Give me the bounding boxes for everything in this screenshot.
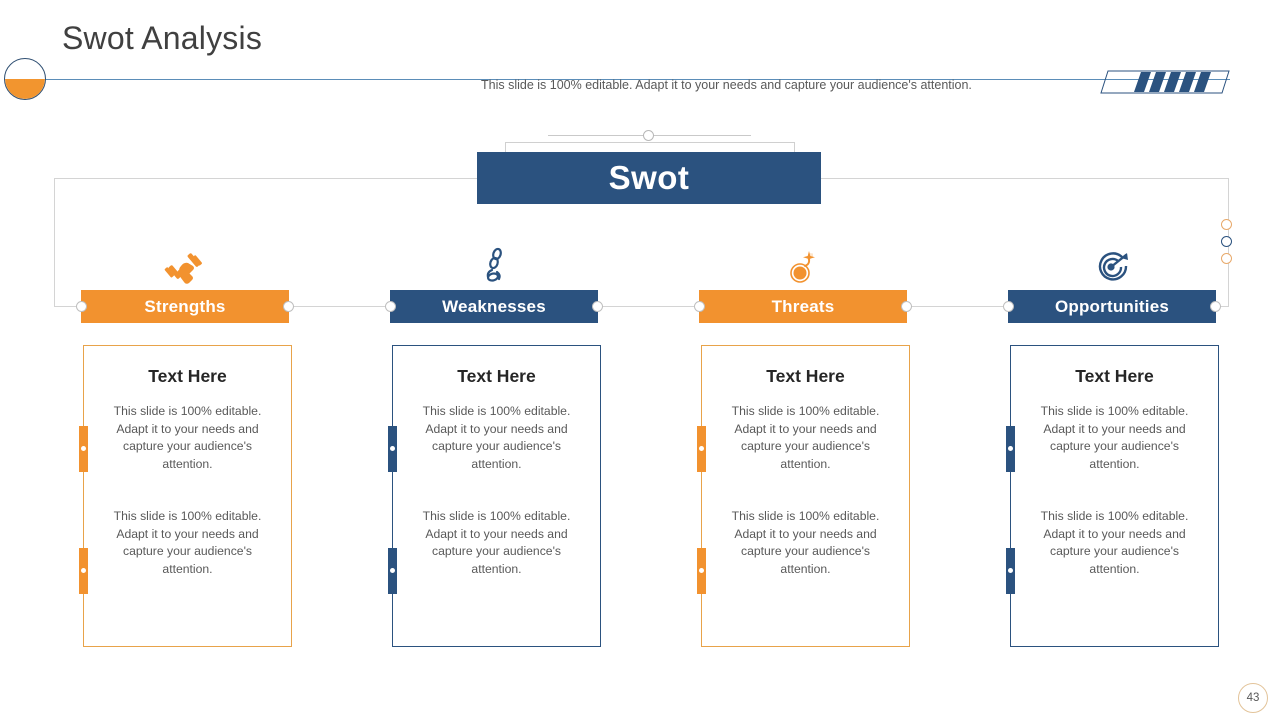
connector-node-left [694, 301, 705, 312]
card-tab-marker [79, 426, 88, 472]
connector-node-left [76, 301, 87, 312]
card-title: Text Here [84, 366, 291, 387]
logo-fill [5, 79, 45, 99]
center-connector-dot-icon [643, 130, 654, 141]
card-tab-dot-icon [699, 568, 704, 573]
category-label-opportunities[interactable]: Opportunities [1008, 290, 1216, 323]
half-circle-logo-icon [4, 58, 46, 100]
card-tab-dot-icon [81, 568, 86, 573]
card-paragraph: This slide is 100% editable. Adapt it to… [100, 508, 275, 578]
center-title-box[interactable]: Swot [477, 152, 821, 204]
broken-chain-icon [472, 245, 516, 289]
card-tab-dot-icon [390, 568, 395, 573]
card-paragraph: This slide is 100% editable. Adapt it to… [1027, 403, 1202, 473]
category-label-text: Strengths [144, 297, 225, 317]
rail-dot-icon [1221, 219, 1232, 230]
page-number-badge: 43 [1238, 683, 1268, 713]
card-tab-marker [388, 426, 397, 472]
card-tab-marker [388, 548, 397, 594]
card-tab-marker [79, 548, 88, 594]
card-paragraph: This slide is 100% editable. Adapt it to… [718, 508, 893, 578]
connector-node-right [901, 301, 912, 312]
slide-canvas: Swot Analysis This slide is 100% editabl… [0, 0, 1280, 720]
card-paragraph: This slide is 100% editable. Adapt it to… [718, 403, 893, 473]
card-tab-dot-icon [1008, 446, 1013, 451]
connector-node-right [592, 301, 603, 312]
header-note: This slide is 100% editable. Adapt it to… [481, 78, 972, 92]
connector-node-left [385, 301, 396, 312]
connector-node-right [283, 301, 294, 312]
connector-node-left [1003, 301, 1014, 312]
category-label-strengths[interactable]: Strengths [81, 290, 289, 323]
content-card[interactable]: Text Here This slide is 100% editable. A… [701, 345, 910, 647]
page-number-text: 43 [1247, 692, 1260, 704]
category-label-weaknesses[interactable]: Weaknesses [390, 290, 598, 323]
card-tab-marker [697, 548, 706, 594]
content-card[interactable]: Text Here This slide is 100% editable. A… [83, 345, 292, 647]
card-tab-marker [697, 426, 706, 472]
category-label-text: Weaknesses [442, 297, 546, 317]
dumbbell-hand-icon [163, 245, 207, 289]
bomb-icon [781, 245, 825, 289]
center-title-label: Swot [609, 159, 690, 197]
card-paragraph: This slide is 100% editable. Adapt it to… [409, 508, 584, 578]
card-paragraph: This slide is 100% editable. Adapt it to… [1027, 508, 1202, 578]
card-tab-dot-icon [390, 446, 395, 451]
target-dart-icon [1090, 245, 1134, 289]
card-title: Text Here [702, 366, 909, 387]
category-label-text: Threats [772, 297, 835, 317]
connector-node-right [1210, 301, 1221, 312]
category-label-text: Opportunities [1055, 297, 1169, 317]
card-tab-dot-icon [699, 446, 704, 451]
card-tab-dot-icon [1008, 568, 1013, 573]
rail-dot-icon [1221, 236, 1232, 247]
card-tab-marker [1006, 426, 1015, 472]
card-tab-dot-icon [81, 446, 86, 451]
category-label-threats[interactable]: Threats [699, 290, 907, 323]
card-title: Text Here [1011, 366, 1218, 387]
page-title: Swot Analysis [62, 20, 262, 57]
striped-parallelogram-icon [1100, 70, 1230, 94]
card-title: Text Here [393, 366, 600, 387]
card-tab-marker [1006, 548, 1015, 594]
card-paragraph: This slide is 100% editable. Adapt it to… [409, 403, 584, 473]
content-card[interactable]: Text Here This slide is 100% editable. A… [1010, 345, 1219, 647]
card-paragraph: This slide is 100% editable. Adapt it to… [100, 403, 275, 473]
rail-dot-icon [1221, 253, 1232, 264]
content-card[interactable]: Text Here This slide is 100% editable. A… [392, 345, 601, 647]
